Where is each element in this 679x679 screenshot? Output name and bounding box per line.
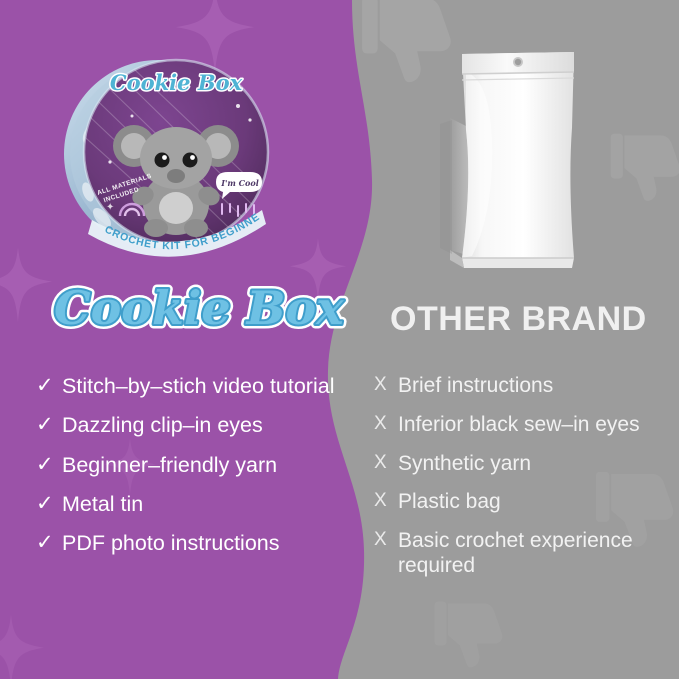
cross-icon: X <box>374 374 398 396</box>
list-item-label: Metal tin <box>62 492 143 517</box>
list-item-label: PDF photo instructions <box>62 531 280 556</box>
svg-text:Cookie Box: Cookie Box <box>110 70 243 95</box>
product-image-tin: Crocheting ever Cookie Box Cookie Box <box>58 42 280 264</box>
other-brand-feature-list: X Brief instructions X Inferior black se… <box>374 374 664 593</box>
cross-icon: X <box>374 529 398 551</box>
svg-text:Cookie Box: Cookie Box <box>54 281 344 335</box>
list-item-label: Synthetic yarn <box>398 452 531 477</box>
svg-text:✦: ✦ <box>106 202 114 213</box>
list-item: ✓ Dazzling clip–in eyes <box>36 413 341 438</box>
list-item: ✓ Beginner–friendly yarn <box>36 453 341 478</box>
list-item-label: Stitch–by–stich video tutorial <box>62 374 334 399</box>
list-item: ✓ PDF photo instructions <box>36 531 341 556</box>
comparison-infographic: Crocheting ever Cookie Box Cookie Box <box>0 0 679 679</box>
cross-icon: X <box>374 490 398 512</box>
list-item-label: Dazzling clip–in eyes <box>62 413 263 438</box>
list-item-label: Beginner–friendly yarn <box>62 453 277 478</box>
cookie-box-feature-list: ✓ Stitch–by–stich video tutorial ✓ Dazzl… <box>36 374 341 571</box>
list-item-label: Plastic bag <box>398 490 501 515</box>
check-icon: ✓ <box>36 492 62 517</box>
list-item: X Basic crochet experience required <box>374 529 664 579</box>
list-item-label: Inferior black sew–in eyes <box>398 413 640 438</box>
list-item: X Synthetic yarn <box>374 452 664 477</box>
list-item-label: Brief instructions <box>398 374 553 399</box>
brand-logo: Cookie Box Cookie Box Cookie Box <box>46 278 336 342</box>
svg-text:I'm Cool: I'm Cool <box>220 178 259 188</box>
check-icon: ✓ <box>36 453 62 478</box>
cross-icon: X <box>374 452 398 474</box>
check-icon: ✓ <box>36 374 62 399</box>
list-item: ✓ Stitch–by–stich video tutorial <box>36 374 341 399</box>
list-item-label: Basic crochet experience required <box>398 529 664 579</box>
list-item: ✓ Metal tin <box>36 492 341 517</box>
product-image-pouch <box>432 32 610 272</box>
list-item: X Brief instructions <box>374 374 664 399</box>
check-icon: ✓ <box>36 413 62 438</box>
list-item: X Plastic bag <box>374 490 664 515</box>
check-icon: ✓ <box>36 531 62 556</box>
list-item: X Inferior black sew–in eyes <box>374 413 664 438</box>
other-brand-heading: OTHER BRAND <box>390 300 670 339</box>
cross-icon: X <box>374 413 398 435</box>
